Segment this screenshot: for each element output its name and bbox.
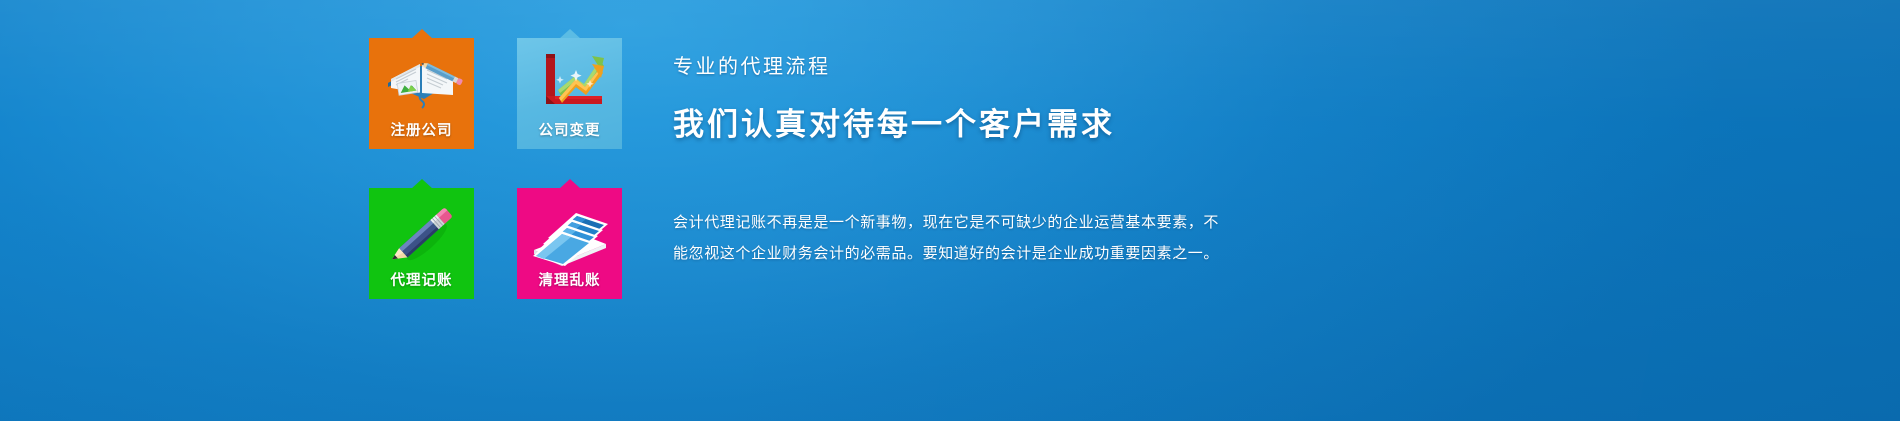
tile-label: 注册公司 — [369, 119, 474, 140]
tile-label: 公司变更 — [517, 119, 622, 140]
pencil-icon — [369, 202, 474, 276]
tile-background: 清理乱账 — [517, 188, 622, 299]
service-tile-company-change[interactable]: 公司变更 — [517, 29, 622, 149]
tile-background: 公司变更 — [517, 38, 622, 149]
promo-banner: 注册公司 — [0, 0, 1900, 421]
service-tile-grid: 注册公司 — [369, 29, 624, 299]
tile-background: 代理记账 — [369, 188, 474, 299]
banner-body-text: 会计代理记账不再是是一个新事物，现在它是不可缺少的企业运营基本要素，不能忽视这个… — [673, 207, 1221, 269]
banner-copy: 专业的代理流程 我们认真对待每一个客户需求 会计代理记账不再是是一个新事物，现在… — [673, 55, 1373, 269]
growth-chart-icon — [517, 46, 622, 112]
tile-label: 代理记账 — [369, 269, 474, 290]
banner-headline: 我们认真对待每一个客户需求 — [673, 106, 1373, 145]
service-tile-bookkeeping[interactable]: 代理记账 — [369, 179, 474, 299]
tile-background: 注册公司 — [369, 38, 474, 149]
tile-label: 清理乱账 — [517, 269, 622, 290]
open-book-icon — [369, 46, 474, 112]
stacked-documents-icon — [517, 200, 622, 272]
service-tile-register-company[interactable]: 注册公司 — [369, 29, 474, 149]
service-tile-account-cleanup[interactable]: 清理乱账 — [517, 179, 622, 299]
banner-eyebrow: 专业的代理流程 — [673, 55, 1373, 79]
